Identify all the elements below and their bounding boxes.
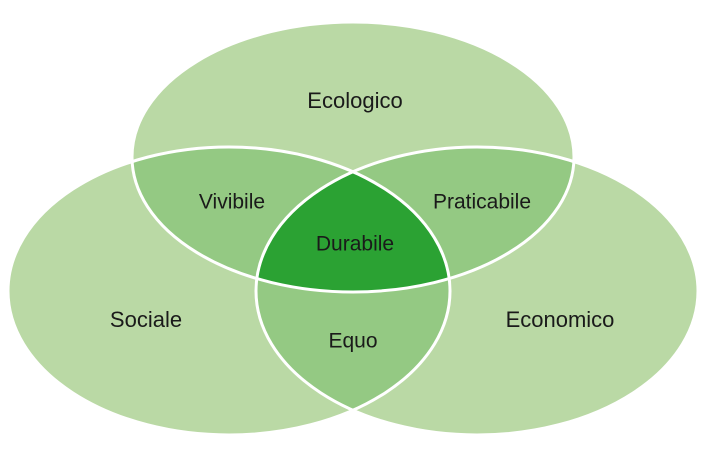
venn-diagram-canvas: Ecologico Sociale Economico Vivibile Pra… bbox=[0, 0, 706, 451]
label-praticabile: Praticabile bbox=[433, 191, 531, 214]
label-sociale: Sociale bbox=[110, 307, 182, 332]
label-durabile: Durabile bbox=[316, 233, 394, 256]
label-ecologico: Ecologico bbox=[307, 88, 402, 113]
label-equo: Equo bbox=[328, 330, 377, 353]
venn-diagram: Ecologico Sociale Economico Vivibile Pra… bbox=[0, 0, 706, 451]
label-economico: Economico bbox=[506, 307, 615, 332]
label-vivibile: Vivibile bbox=[199, 191, 265, 214]
